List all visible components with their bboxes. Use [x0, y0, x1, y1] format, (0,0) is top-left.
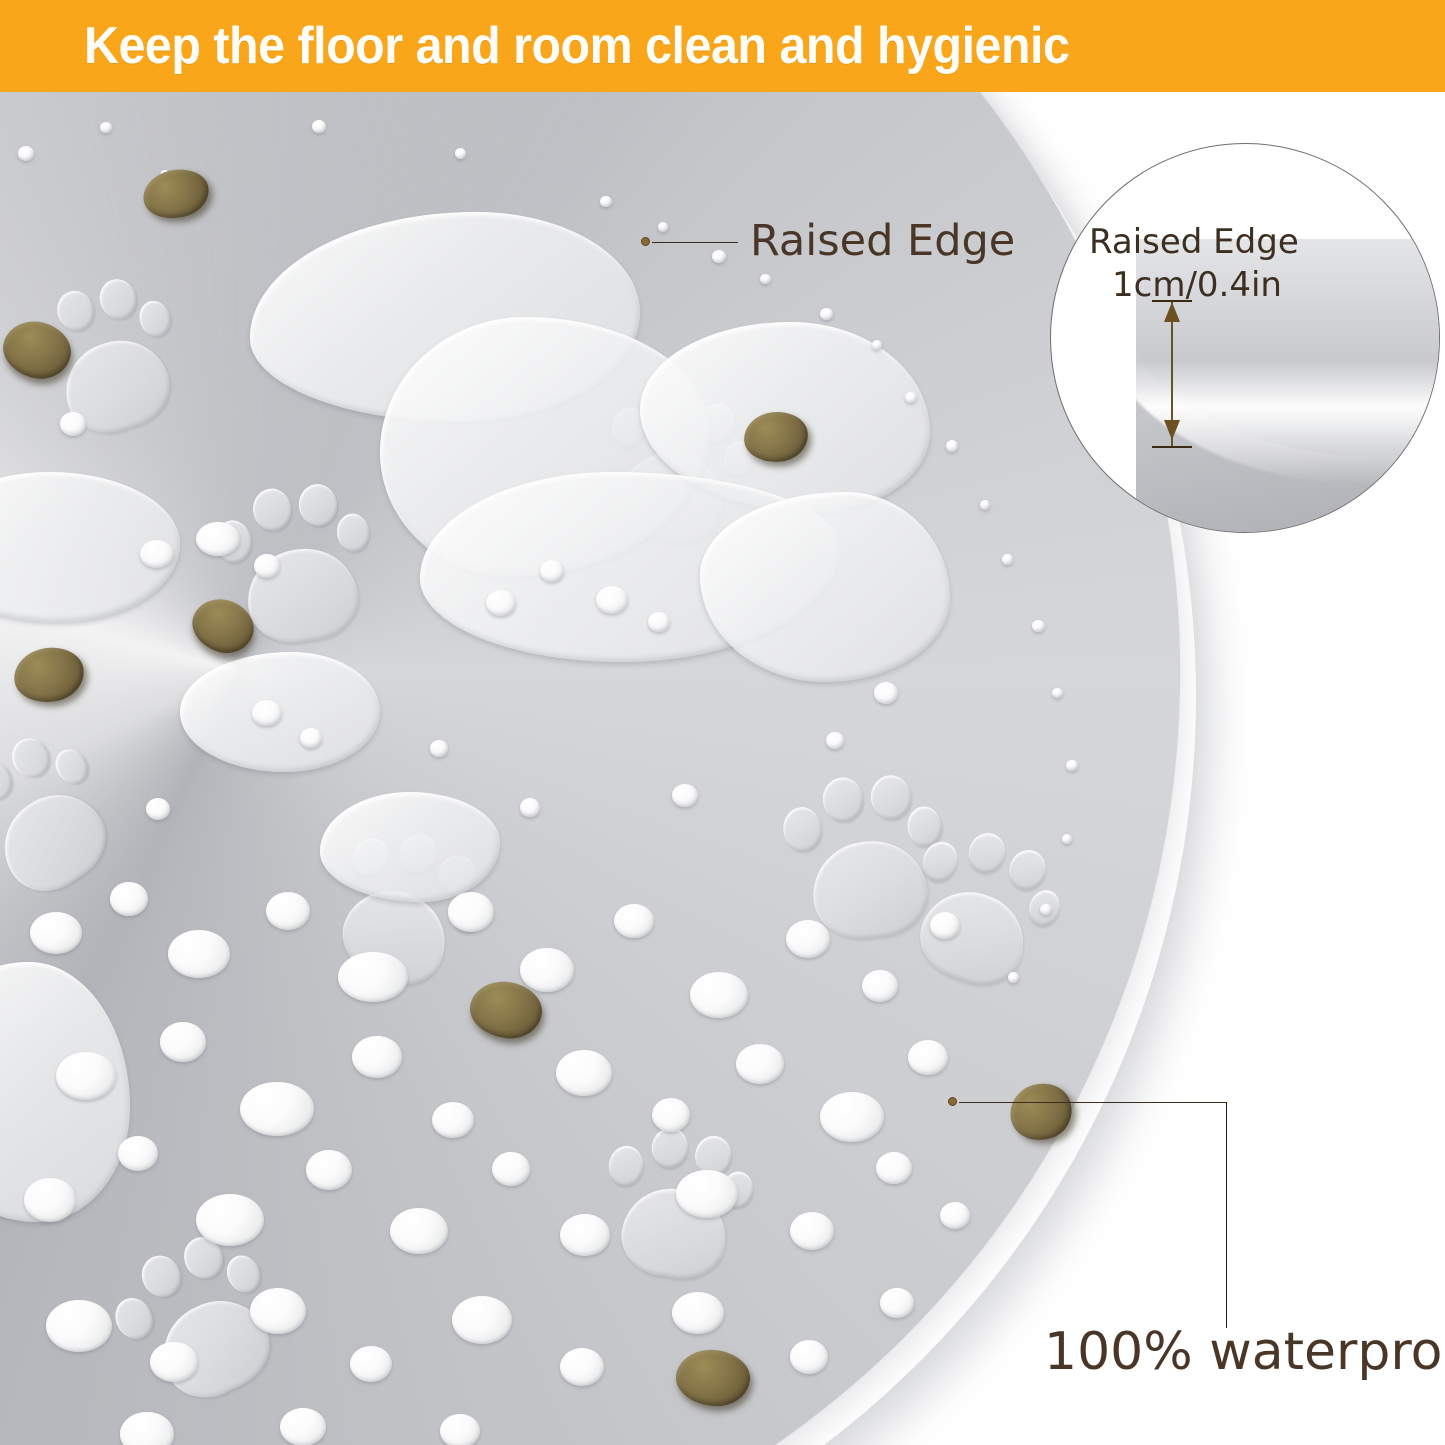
water-droplet — [338, 952, 408, 1002]
water-droplet — [1008, 972, 1019, 983]
water-droplet — [596, 586, 628, 614]
water-droplet — [560, 1214, 610, 1256]
water-droplet — [390, 1208, 448, 1254]
water-droplet — [908, 1040, 948, 1075]
water-droplet — [672, 784, 698, 807]
water-droplet — [676, 1170, 738, 1218]
water-droplet — [56, 1052, 116, 1100]
water-droplet — [60, 412, 86, 436]
water-droplet — [672, 1292, 724, 1334]
leader-line-raised-edge — [652, 242, 738, 243]
headline-text: Keep the floor and room clean and hygien… — [84, 16, 1069, 76]
water-droplet — [1002, 554, 1013, 565]
water-droplet — [280, 1408, 326, 1445]
water-droplet — [452, 1296, 512, 1344]
product-marketing-image: Keep the floor and room clean and hygien… — [0, 0, 1445, 1445]
water-droplet — [240, 1082, 314, 1136]
leader-line-waterproof-horizontal — [959, 1102, 1227, 1103]
water-droplet — [556, 1050, 612, 1096]
dimension-tick-bottom — [1152, 446, 1192, 448]
water-droplet — [300, 728, 322, 748]
water-droplet — [905, 392, 917, 403]
water-droplet — [880, 1288, 914, 1318]
water-droplet — [350, 1346, 392, 1382]
water-droplet — [648, 612, 670, 632]
water-droplet — [862, 970, 898, 1002]
water-droplet — [352, 1036, 402, 1078]
water-droplet — [254, 554, 280, 578]
water-droplet — [786, 920, 830, 958]
water-droplet — [18, 146, 34, 161]
water-droplet — [110, 882, 148, 916]
water-droplet — [196, 522, 240, 556]
water-droplet — [1040, 904, 1052, 915]
water-droplet — [250, 1288, 306, 1334]
water-droplet — [736, 1044, 784, 1084]
callout-label-waterproof: 100% waterproof — [1044, 1322, 1445, 1382]
inset-title: Raised Edge — [1089, 222, 1299, 262]
water-droplet — [520, 948, 574, 992]
water-droplet — [306, 1150, 352, 1190]
water-droplet — [712, 250, 726, 263]
headline-banner: Keep the floor and room clean and hygien… — [0, 0, 1445, 92]
water-droplet — [690, 972, 748, 1018]
water-droplet — [790, 1212, 834, 1250]
water-droplet — [440, 1414, 480, 1445]
water-droplet — [1062, 834, 1072, 844]
water-droplet — [30, 912, 82, 954]
water-droplet — [600, 196, 612, 207]
water-droplet — [980, 500, 990, 510]
water-droplet — [560, 1348, 604, 1386]
water-droplet — [874, 682, 898, 704]
callout-dot-raised-edge — [641, 237, 650, 246]
water-droplet — [1066, 760, 1078, 771]
water-droplet — [24, 1178, 76, 1222]
water-droplet — [196, 1194, 264, 1246]
water-droplet — [614, 904, 654, 938]
water-droplet — [790, 1340, 828, 1374]
water-droplet — [432, 1102, 474, 1138]
water-droplet — [455, 148, 466, 159]
water-droplet — [820, 308, 833, 320]
water-droplet — [448, 892, 494, 932]
water-droplet — [876, 1152, 912, 1184]
water-droplet — [658, 222, 668, 232]
water-droplet — [946, 440, 958, 452]
water-droplet — [486, 590, 516, 616]
water-puddle — [320, 792, 500, 902]
water-droplet — [940, 1202, 970, 1229]
water-droplet — [492, 1152, 530, 1186]
water-droplet — [46, 1300, 112, 1352]
water-droplet — [160, 1022, 206, 1062]
water-droplet — [872, 340, 882, 350]
dimension-arrowhead-bottom — [1164, 420, 1180, 440]
dimension-arrowhead-top — [1164, 302, 1180, 322]
callout-label-raised-edge: Raised Edge — [750, 216, 1015, 266]
water-droplet — [1032, 620, 1045, 632]
water-droplet — [930, 912, 960, 939]
water-droplet — [1052, 688, 1063, 698]
water-droplet — [168, 930, 230, 978]
water-droplet — [150, 1342, 198, 1382]
water-droplet — [146, 798, 170, 820]
water-droplet — [826, 732, 844, 749]
water-droplet — [252, 700, 282, 726]
callout-dot-waterproof — [948, 1097, 957, 1106]
water-droplet — [820, 1092, 884, 1142]
water-droplet — [760, 274, 771, 284]
dimension-arrow — [1152, 296, 1192, 452]
water-droplet — [100, 122, 112, 133]
inset-measurement: 1cm/0.4in — [1112, 265, 1282, 305]
water-droplet — [140, 540, 174, 568]
water-droplet — [266, 892, 310, 930]
water-droplet — [652, 1098, 690, 1132]
leader-line-waterproof-vertical — [1226, 1102, 1227, 1328]
water-droplet — [312, 120, 326, 133]
water-droplet — [520, 798, 540, 817]
inset-detail-circle — [1050, 143, 1440, 533]
water-droplet — [118, 1136, 158, 1171]
water-droplet — [430, 740, 448, 757]
water-droplet — [540, 560, 564, 582]
